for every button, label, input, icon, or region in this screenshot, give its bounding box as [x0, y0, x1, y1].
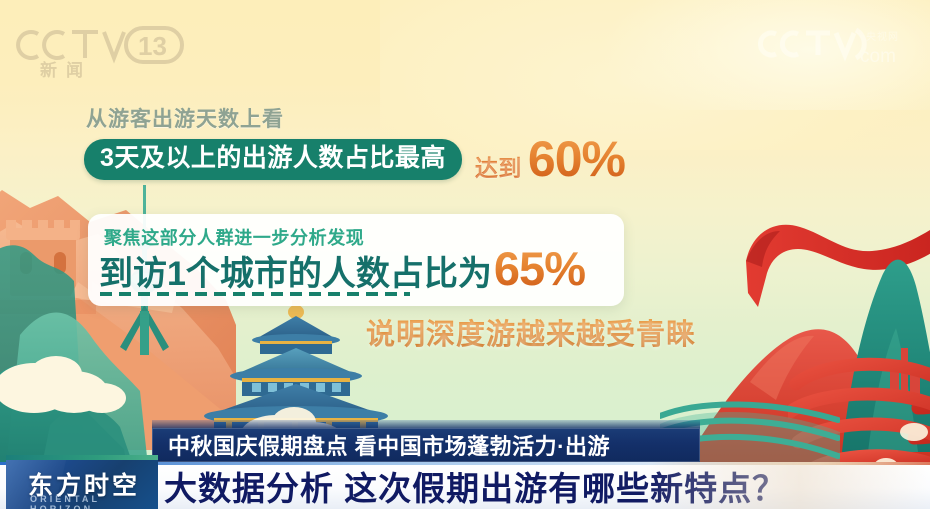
stat-pill-value-group: 达到 60% — [475, 136, 625, 184]
svg-text:央视网: 央视网 — [866, 30, 899, 43]
topic-bar: 中秋国庆假期盘点 看中国市场蓬勃活力·出游 — [152, 428, 700, 462]
stat-pill-label: 3天及以上的出游人数占比最高 — [84, 139, 462, 180]
topic-bar-text: 中秋国庆假期盘点 看中国市场蓬勃活力·出游 — [168, 429, 610, 461]
program-name-en: ORIENTAL HORIZON — [30, 494, 158, 509]
card-main-row: 到访1个城市的人数占比为 65% — [99, 247, 585, 292]
stat-value-60: 60% — [528, 136, 625, 184]
card-main-text: 到访1个城市的人数占比为 — [99, 257, 492, 291]
stat-pill-suffix: 达到 — [475, 149, 522, 183]
cloud-illustration-left — [0, 340, 144, 420]
cctv-com-web-logo: com 央视网 — [758, 26, 920, 68]
infographic-conclusion: 说明深度游越来越受青睐 — [366, 311, 696, 353]
stat-value-65: 65% — [494, 247, 585, 292]
broadcast-screen: 13 新闻 com 央视网 从游客出游天数上看 3天及以上的出游人数占比最高 达… — [0, 0, 930, 509]
infographic-stat-row-1: 3天及以上的出游人数占比最高 达到 60% — [84, 136, 625, 184]
headline-bar-sheen — [640, 462, 930, 509]
program-logo: 东方时空 ORIENTAL HORIZON — [6, 460, 158, 509]
svg-text:新闻: 新闻 — [40, 60, 92, 78]
infographic-lead-line: 从游客出游天数上看 — [86, 103, 284, 133]
svg-text:com: com — [860, 46, 896, 67]
cctv13-channel-logo: 13 新闻 — [14, 22, 194, 78]
svg-text:13: 13 — [138, 31, 167, 61]
card-dashed-underline — [100, 292, 410, 296]
